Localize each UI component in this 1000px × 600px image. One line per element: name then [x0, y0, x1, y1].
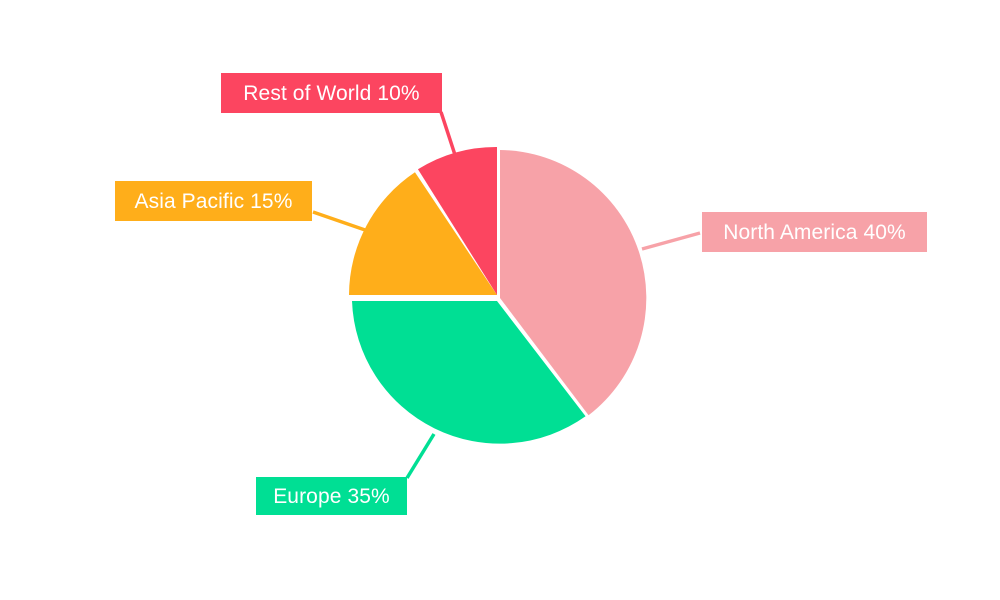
pie-slices-group	[349, 147, 646, 444]
pie-label-text: North America 40%	[723, 222, 906, 243]
pie-label-text: Asia Pacific 15%	[134, 191, 292, 212]
pie-chart-figure: Rest of World 10% Asia Pacific 15% North…	[0, 0, 1000, 600]
pie-label-text: Rest of World 10%	[243, 83, 419, 104]
pie-label-north-america[interactable]: North America 40%	[702, 212, 927, 252]
leader-line-rest-of-world	[441, 112, 457, 161]
pie-label-text: Europe 35%	[273, 486, 390, 507]
pie-chart-canvas	[0, 0, 1000, 600]
pie-label-europe[interactable]: Europe 35%	[256, 477, 407, 515]
pie-label-rest-of-world[interactable]: Rest of World 10%	[221, 73, 442, 113]
leader-line-asia-pacific	[313, 212, 368, 231]
leader-line-europe	[407, 434, 434, 478]
leader-line-north-america	[642, 233, 700, 249]
pie-label-asia-pacific[interactable]: Asia Pacific 15%	[115, 181, 312, 221]
